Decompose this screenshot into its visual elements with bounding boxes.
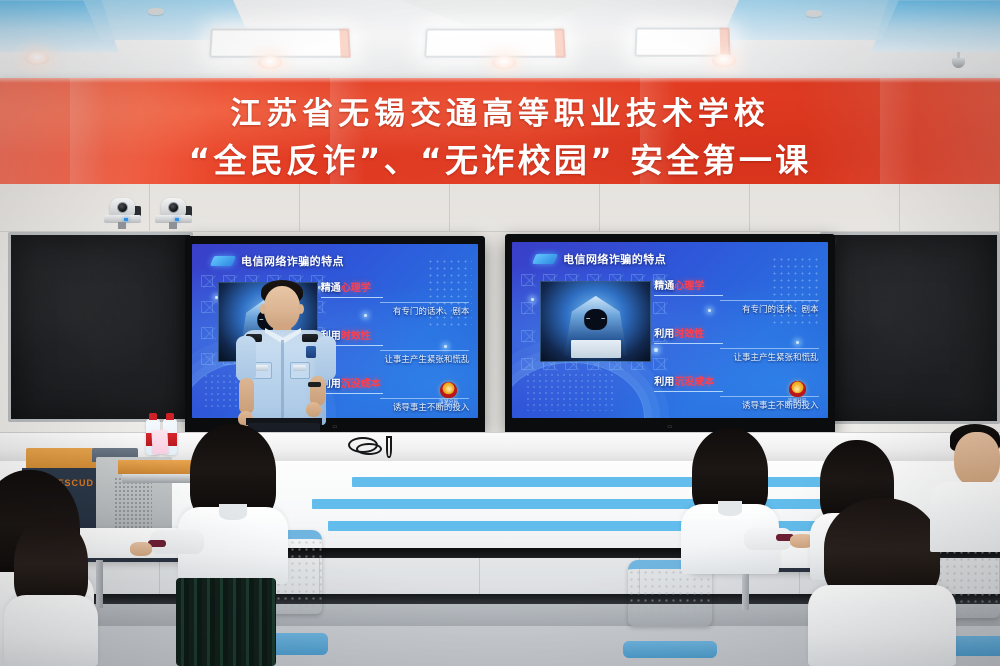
bullet-1-main: 精通心理学 [654,277,818,292]
ceiling-cctv-dome-icon [952,52,965,68]
presenter-arm-left [236,336,256,382]
presenter-shirt-placket [281,340,284,422]
chalkboard-right [820,232,1000,424]
cable-run [386,436,392,458]
chair[interactable] [628,560,712,666]
ceiling [0,0,1000,84]
slide-header: 电信网络诈骗的特点 [212,253,344,269]
slide-image-hacker [540,281,651,362]
chalkboard-left [8,232,193,422]
stage-stripe [328,521,888,531]
man-shirt [930,482,1000,552]
stage-stripe [352,477,872,487]
student-shirt [4,595,99,666]
display-left[interactable]: 电信网络诈骗的特点 精通心理学 有专门的话术、剧本 利用时效性 [185,236,485,432]
presenter-shoulder-patch [306,346,316,358]
smoke-detector [806,10,822,17]
bullet-1-sub: 有专门的话术、剧本 [654,303,818,315]
presenter-chest-badge [255,365,268,371]
slide-title-text: 电信网络诈骗的特点 [241,253,344,269]
cable-coil [356,443,382,455]
presenter-ear [298,304,304,314]
presenter-chest-badge [293,365,306,371]
ceiling-downlight [492,56,516,69]
bullet-1-main: 精通心理学 [321,279,470,294]
presenter-arm-right [316,336,336,380]
banner-school-name: 江苏省无锡交通高等职业技术学校 [0,88,1000,133]
screenshot-scene: 江苏省无锡交通高等职业技术学校 “全民反诈”、“无诈校园” 安全第一课 [0,0,1000,666]
name-card [151,430,168,455]
police-badge-right: 滨湖分局 BINHU BRANCH [782,381,812,407]
presenter-hand-right [306,402,321,417]
bullet-2-sub: 让事主产生紧张和慌乱 [654,351,818,363]
stage-stripe [312,499,892,509]
bullet-2-sub: 让事主产生紧张和慌乱 [321,353,470,365]
police-badge-left: 滨湖分局 BINHU BRANCH [434,382,464,408]
student-shirt [808,585,956,666]
ceiling-downlight [25,52,49,65]
slide-right: 电信网络诈骗的特点 精通心理学 有专门的话术、剧本 利用时效性 [512,242,828,418]
police-shield-icon [789,381,806,397]
ceiling-panel-light [424,29,566,58]
desk-leg [742,570,749,610]
student-foreground-left-2 [14,518,88,666]
student-collar [718,501,742,516]
student-hand [130,542,152,556]
banner-theme: “全民反诈”、“无诈校园” 安全第一课 [0,134,1000,182]
presenter-wristwatch [308,382,321,387]
bullet-2-main: 利用时效性 [654,325,818,340]
ceiling-downlight [258,56,282,69]
slide-title-parallelogram-icon [532,254,558,264]
police-shield-icon [440,382,457,398]
ceiling-panel-light [634,28,730,57]
student-right-foreground [824,498,940,666]
slide-header: 电信网络诈骗的特点 [534,251,666,267]
ptz-camera-left [104,198,141,228]
bullet-2-main: 利用时效性 [321,327,470,342]
presenter-forearm-left [239,378,254,414]
ptz-camera-right [155,198,192,228]
student-foreground-left [190,424,276,584]
student-right-1 [692,428,768,574]
smoke-detector [148,8,164,15]
student-skirt [176,578,276,666]
ceiling-downlight [712,54,736,67]
display-right[interactable]: 电信网络诈骗的特点 精通心理学 有专门的话术、剧本 利用时效性 [505,234,835,432]
desk-leg [96,560,103,608]
ceiling-panel-light [209,29,351,58]
student-collar [219,504,247,520]
slide-left: 电信网络诈骗的特点 精通心理学 有专门的话术、剧本 利用时效性 [192,244,478,418]
presenter-ear [260,304,266,314]
slide-title-parallelogram-icon [210,256,236,266]
man-head [954,432,1000,486]
display-brand-right: ▭ [667,424,672,430]
bullet-1-sub: 有专门的话术、剧本 [321,305,470,317]
slide-title-text: 电信网络诈骗的特点 [563,251,666,267]
ceiling-cove-inner-right [721,0,899,40]
